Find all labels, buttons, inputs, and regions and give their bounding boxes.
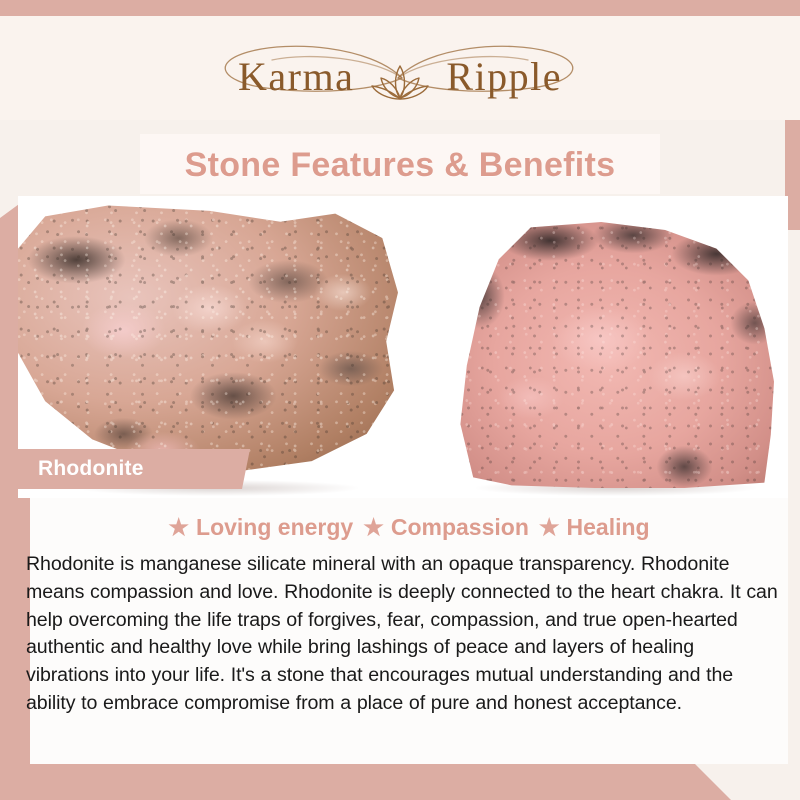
benefits-row: ★ Loving energy ★ Compassion ★ Healing bbox=[30, 498, 788, 541]
stone-info-card: Karma Ripple Stone Features & Benefits bbox=[0, 0, 800, 800]
page-title: Stone Features & Benefits bbox=[0, 146, 800, 185]
benefit-label: Compassion bbox=[391, 514, 529, 541]
benefit-label: Loving energy bbox=[196, 514, 353, 541]
benefit-item-healing: ★ Healing bbox=[539, 514, 650, 541]
stone-description: Rhodonite is manganese silicate mineral … bbox=[26, 541, 788, 718]
star-icon: ★ bbox=[168, 516, 189, 539]
brand-word-right: Ripple bbox=[446, 57, 562, 97]
stone-speckle-grain bbox=[454, 222, 774, 488]
star-icon: ★ bbox=[539, 516, 560, 539]
benefit-item-loving-energy: ★ Loving energy bbox=[168, 514, 353, 541]
stone-name-label: Rhodonite bbox=[18, 457, 144, 481]
benefit-label: Healing bbox=[567, 514, 650, 541]
stone-speckle-grain bbox=[18, 200, 398, 472]
rhodonite-stone-left-image bbox=[18, 200, 398, 472]
content-panel: ★ Loving energy ★ Compassion ★ Healing R… bbox=[30, 498, 788, 764]
brand-word-left: Karma bbox=[238, 57, 354, 97]
star-icon: ★ bbox=[363, 516, 384, 539]
stone-photo-right bbox=[416, 196, 788, 498]
brand-logo: Karma Ripple bbox=[170, 38, 630, 116]
frame-band-top bbox=[0, 0, 800, 16]
frame-band-bottom bbox=[0, 764, 800, 800]
lotus-icon bbox=[369, 60, 431, 106]
stone-name-tag: Rhodonite bbox=[18, 449, 250, 489]
rhodonite-stone-right-image bbox=[454, 222, 774, 488]
benefit-item-compassion: ★ Compassion bbox=[363, 514, 529, 541]
header: Karma Ripple bbox=[0, 16, 800, 120]
